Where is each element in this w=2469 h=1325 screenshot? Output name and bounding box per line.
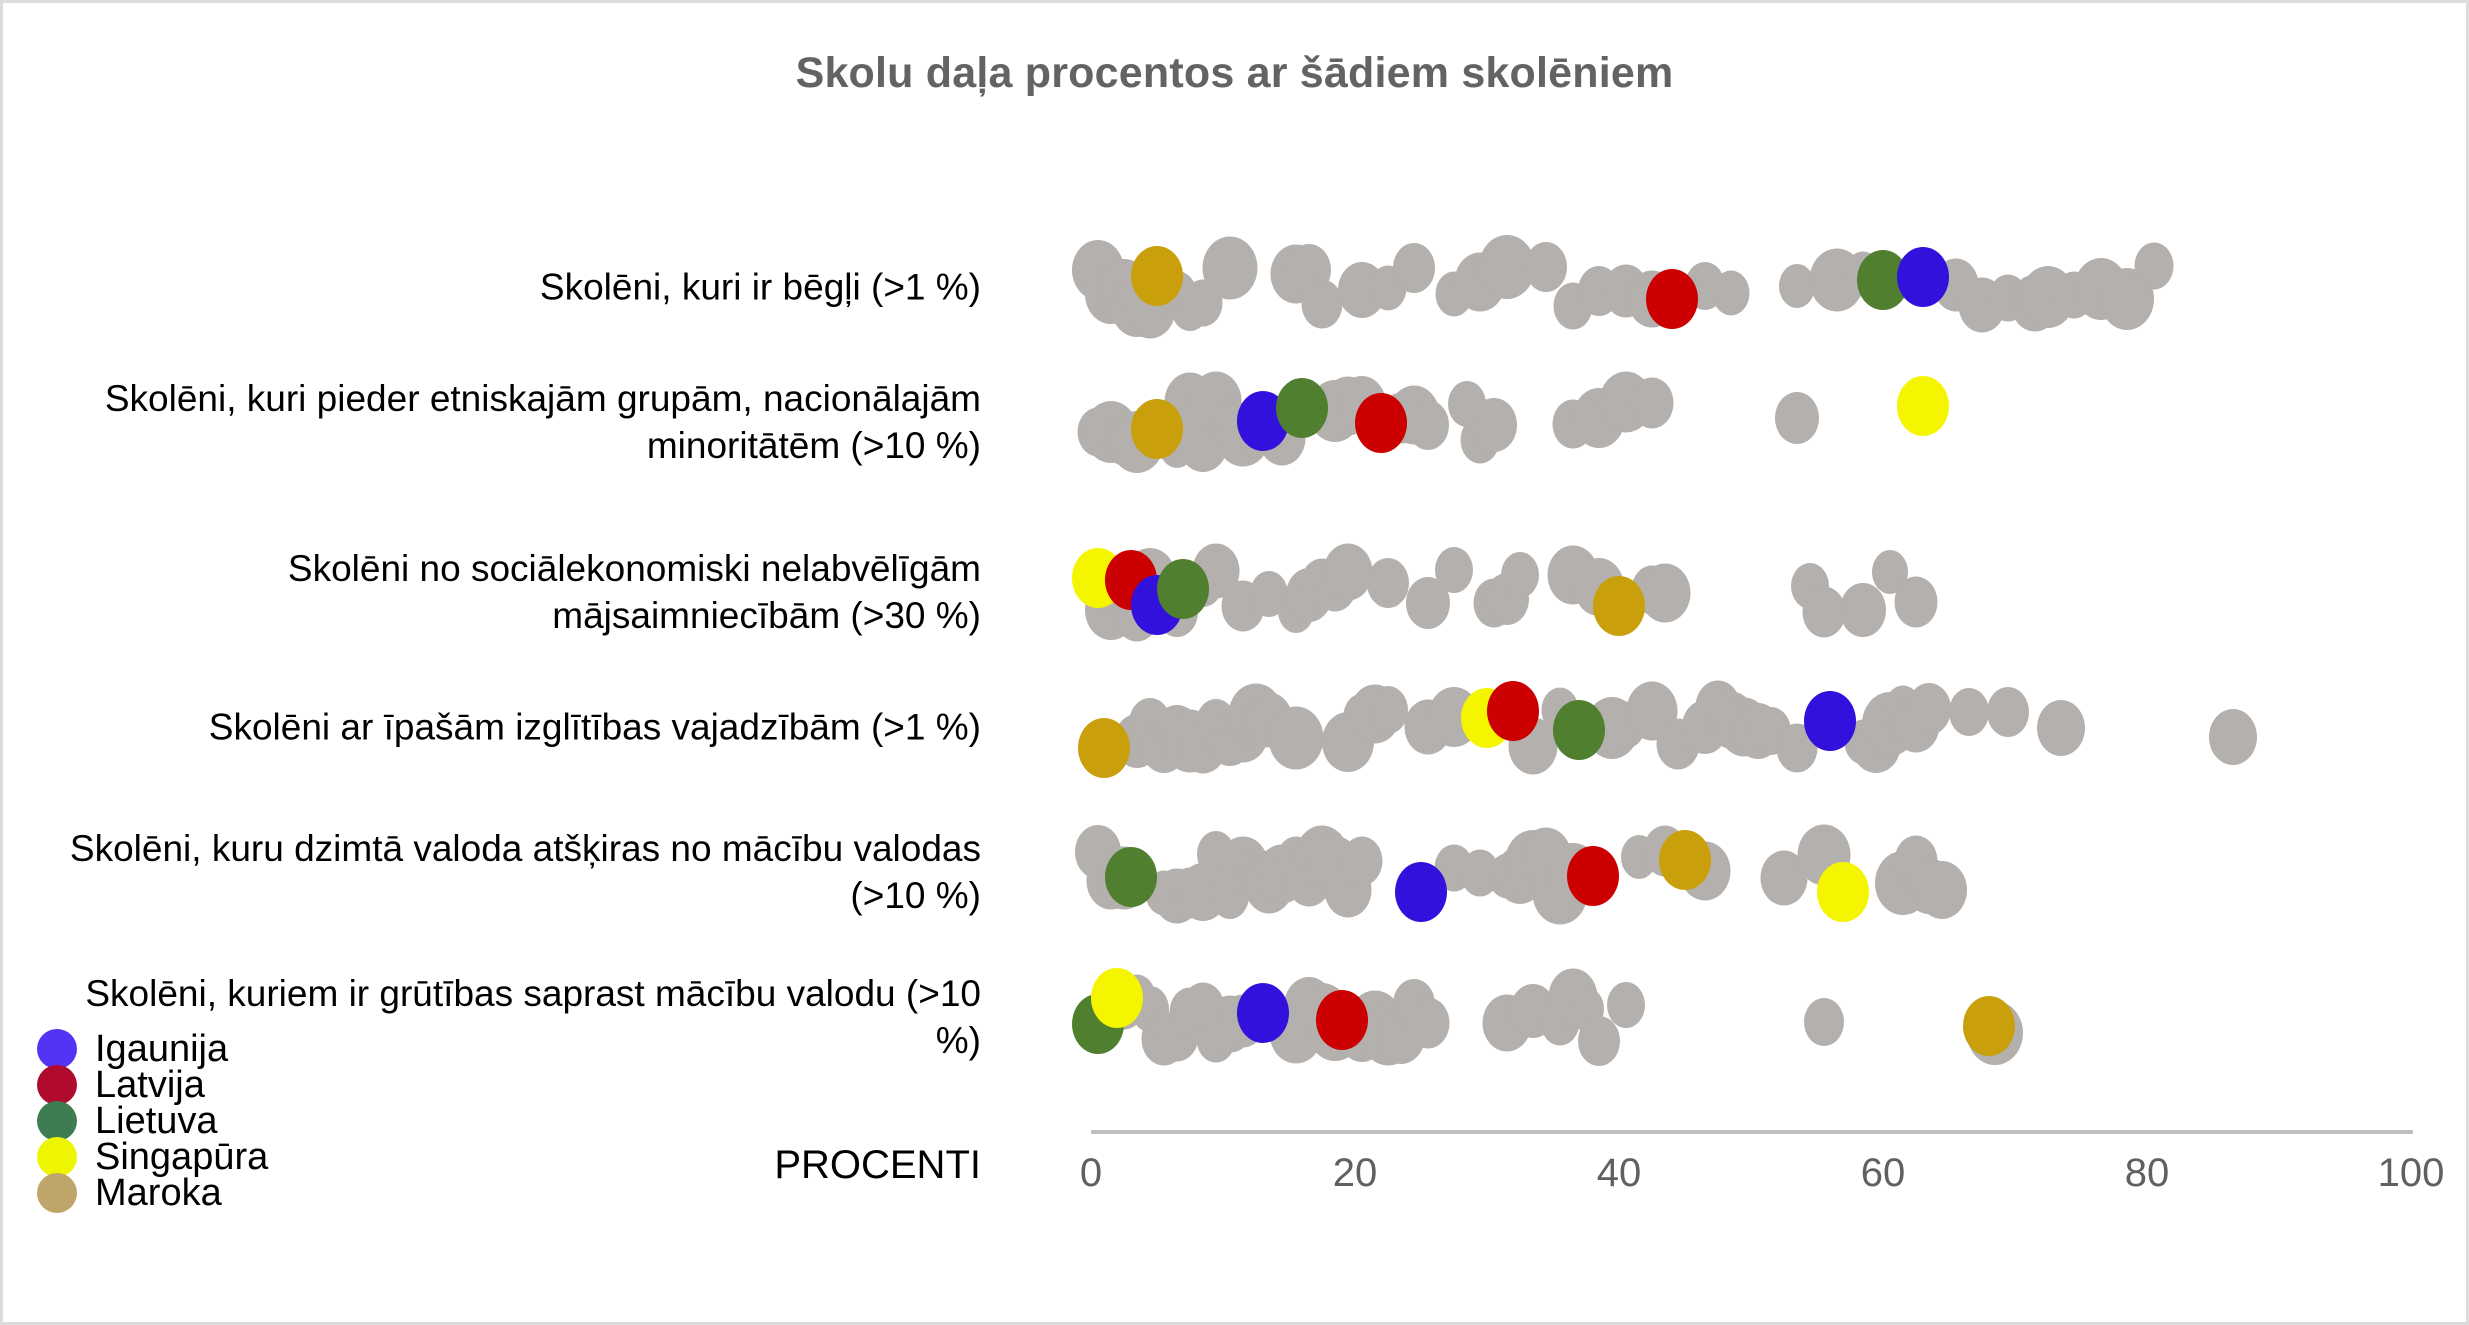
data-point-lietuva[interactable] xyxy=(1157,559,1209,619)
data-point-maroka[interactable] xyxy=(1131,246,1183,306)
x-tick-label-20: 20 xyxy=(1333,1151,1378,1196)
data-point-lietuva[interactable] xyxy=(1553,700,1605,760)
data-point-other xyxy=(1435,547,1473,593)
data-point-maroka[interactable] xyxy=(1659,830,1711,890)
legend-item-latvija[interactable]: Latvija xyxy=(37,1067,457,1103)
data-point-igaunija[interactable] xyxy=(1804,691,1856,751)
data-point-other xyxy=(1302,280,1343,329)
legend-item-igaunija[interactable]: Igaunija xyxy=(37,1031,457,1067)
data-point-other xyxy=(1640,563,1691,622)
x-tick-label-0: 0 xyxy=(1080,1151,1102,1196)
data-point-other xyxy=(1525,242,1567,292)
x-tick-label-60: 60 xyxy=(1861,1151,1906,1196)
data-point-igaunija[interactable] xyxy=(1237,983,1289,1043)
data-point-other xyxy=(1907,683,1951,735)
data-point-other xyxy=(2134,242,2173,289)
legend-item-maroka[interactable]: Maroka xyxy=(37,1175,457,1211)
data-point-latvija[interactable] xyxy=(1316,990,1368,1050)
legend-label: Lietuva xyxy=(95,1102,218,1140)
data-point-maroka[interactable] xyxy=(1078,718,1130,778)
data-point-other xyxy=(2037,700,2085,756)
page-title: Skolu daļa procentos ar šādiem skolēniem xyxy=(3,49,2466,98)
plot-area xyxy=(1091,203,2411,1128)
data-point-latvija[interactable] xyxy=(1355,393,1407,453)
chart-frame: Skolu daļa procentos ar šādiem skolēniem… xyxy=(0,0,2469,1325)
data-point-singapūra[interactable] xyxy=(1091,968,1143,1028)
data-point-latvija[interactable] xyxy=(1487,681,1539,741)
legend-label: Singapūra xyxy=(95,1138,268,1176)
data-point-maroka[interactable] xyxy=(1593,576,1645,636)
data-point-other xyxy=(1775,392,1819,444)
data-point-other xyxy=(1802,587,1845,638)
data-point-other xyxy=(1607,982,1645,1028)
data-point-maroka[interactable] xyxy=(1131,399,1183,459)
legend-swatch-icon xyxy=(37,1065,77,1105)
x-axis-title: PROCENTI xyxy=(774,1143,981,1188)
legend-swatch-icon xyxy=(37,1029,77,1069)
category-label-0: Skolēni, kuri ir bēgļi (>1 %) xyxy=(61,265,981,312)
legend-swatch-icon xyxy=(37,1137,77,1177)
data-point-other xyxy=(1406,997,1449,1048)
data-point-other xyxy=(1367,558,1409,608)
category-label-4: Skolēni, kuru dzimtā valoda atšķiras no … xyxy=(61,826,981,920)
data-point-other xyxy=(1341,836,1382,885)
data-point-igaunija[interactable] xyxy=(1897,247,1949,307)
data-point-other xyxy=(1917,861,1967,919)
data-point-other xyxy=(1713,270,1750,315)
legend-label: Igaunija xyxy=(95,1030,228,1068)
data-point-other xyxy=(1202,237,1257,300)
legend-swatch-icon xyxy=(37,1173,77,1213)
data-point-other xyxy=(1471,398,1517,452)
category-label-3: Skolēni ar īpašām izglītības vajadzībām … xyxy=(61,705,981,752)
legend-label: Latvija xyxy=(95,1066,205,1104)
legend-item-singapūra[interactable]: Singapūra xyxy=(37,1139,457,1175)
category-label-2: Skolēni no sociālekonomiski nelabvēlīgām… xyxy=(61,546,981,640)
data-point-maroka[interactable] xyxy=(1963,996,2015,1056)
data-point-other xyxy=(1949,688,1989,736)
data-point-latvija[interactable] xyxy=(1646,269,1698,329)
data-point-other xyxy=(1631,377,1674,428)
data-point-other xyxy=(1987,687,2029,737)
data-point-other xyxy=(1324,543,1373,600)
legend-swatch-icon xyxy=(37,1101,77,1141)
data-point-lietuva[interactable] xyxy=(1276,378,1328,438)
x-axis-tick-labels: 020406080100 xyxy=(1091,1151,2413,1211)
data-point-other xyxy=(2209,709,2257,765)
category-label-1: Skolēni, kuri pieder etniskajām grupām, … xyxy=(61,376,981,470)
data-point-other xyxy=(1393,243,1435,293)
data-point-other xyxy=(1268,706,1323,769)
data-point-latvija[interactable] xyxy=(1567,846,1619,906)
data-point-other xyxy=(1804,998,1844,1046)
data-point-singapūra[interactable] xyxy=(1897,376,1949,436)
x-tick-label-40: 40 xyxy=(1597,1151,1642,1196)
data-point-singapūra[interactable] xyxy=(1817,862,1869,922)
data-point-other xyxy=(1895,577,1938,628)
data-point-other xyxy=(1368,686,1408,734)
data-point-other xyxy=(1407,400,1449,450)
data-point-lietuva[interactable] xyxy=(1105,847,1157,907)
legend: IgaunijaLatvijaLietuvaSingapūraMaroka xyxy=(37,1031,457,1211)
legend-item-lietuva[interactable]: Lietuva xyxy=(37,1103,457,1139)
x-axis-line xyxy=(1091,1130,2413,1134)
legend-label: Maroka xyxy=(95,1174,222,1212)
data-point-igaunija[interactable] xyxy=(1395,862,1447,922)
x-tick-label-100: 100 xyxy=(2378,1151,2445,1196)
data-point-other xyxy=(1501,552,1539,598)
x-tick-label-80: 80 xyxy=(2125,1151,2170,1196)
